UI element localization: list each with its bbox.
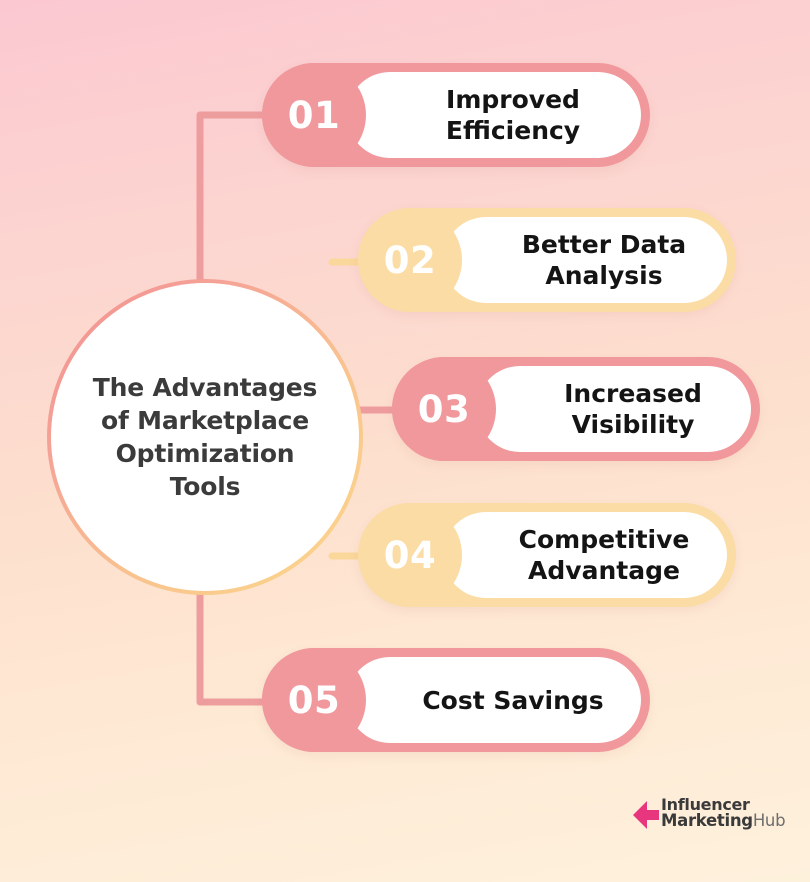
logo-hub: Hub [753, 811, 785, 830]
logo-marketing: Marketing [661, 811, 753, 830]
item-number-badge: 02 [358, 208, 462, 312]
item-number-badge: 01 [262, 63, 366, 167]
item-panel: Increased Visibility [477, 366, 751, 452]
item-panel: Improved Efficiency [347, 72, 641, 158]
infographic-canvas: The Advantages of Marketplace Optimizati… [0, 0, 810, 882]
item-panel: Better Data Analysis [443, 217, 727, 303]
item-label: Better Data Analysis [495, 229, 713, 291]
item-label: Competitive Advantage [495, 524, 713, 586]
list-item-03[interactable]: 03 Increased Visibility [392, 357, 760, 461]
item-label: Improved Efficiency [399, 84, 627, 146]
item-number-badge: 04 [358, 503, 462, 607]
left-arrow-icon [633, 797, 659, 833]
center-hub: The Advantages of Marketplace Optimizati… [47, 279, 363, 595]
logo-wordmark: Influencer MarketingHub [661, 797, 785, 830]
item-panel: Cost Savings [347, 657, 641, 743]
list-item-02[interactable]: 02 Better Data Analysis [358, 208, 736, 312]
logo-line-marketinghub: MarketingHub [661, 813, 785, 830]
list-item-04[interactable]: 04 Competitive Advantage [358, 503, 736, 607]
item-label: Increased Visibility [529, 378, 737, 440]
brand-logo[interactable]: Influencer MarketingHub [633, 794, 785, 833]
list-item-05[interactable]: 05 Cost Savings [262, 648, 650, 752]
item-label: Cost Savings [399, 685, 627, 716]
item-panel: Competitive Advantage [443, 512, 727, 598]
item-number-badge: 05 [262, 648, 366, 752]
page-title: The Advantages of Marketplace Optimizati… [78, 371, 333, 503]
item-number-badge: 03 [392, 357, 496, 461]
list-item-01[interactable]: 01 Improved Efficiency [262, 63, 650, 167]
